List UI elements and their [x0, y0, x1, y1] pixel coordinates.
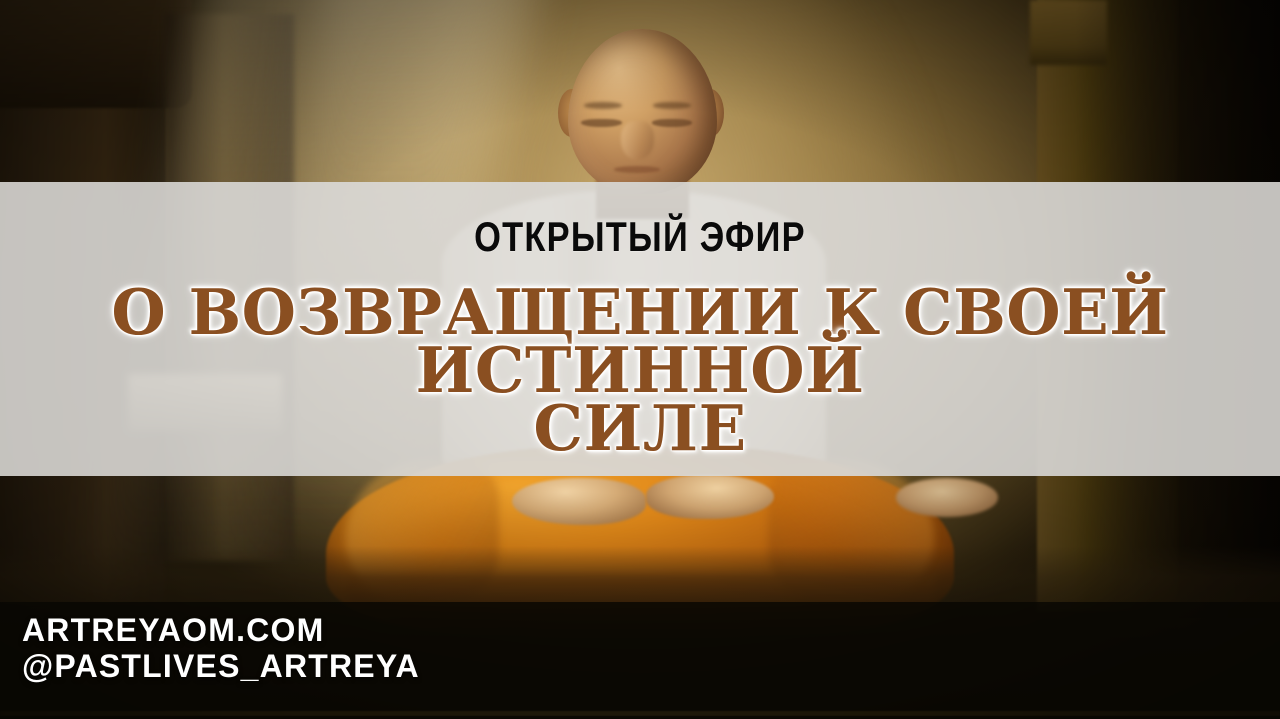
monk-eye-right-closed: [652, 119, 693, 127]
promo-banner: ОТКРЫТЫЙ ЭФИР О ВОЗВРАЩЕНИИ К СВОЕЙ ИСТИ…: [0, 0, 1280, 719]
monk-brow-left: [584, 102, 622, 108]
monk-hand-left: [512, 478, 646, 525]
footer-handle[interactable]: @PASTLIVES_ARTREYA: [22, 648, 420, 684]
kicker-text: ОТКРЫТЫЙ ЭФИР: [115, 216, 1165, 258]
footer-website[interactable]: ARTREYAOM.COM: [22, 612, 420, 648]
headline-line-1: О ВОЗВРАЩЕНИИ К СВОЕЙ ИСТИННОЙ: [111, 275, 1168, 407]
headline-line-2: СИЛЕ: [20, 400, 1259, 458]
headline: О ВОЗВРАЩЕНИИ К СВОЕЙ ИСТИННОЙ СИЛЕ: [20, 284, 1259, 458]
monk-brow-right: [653, 102, 691, 108]
monk-mouth: [614, 166, 660, 172]
monk-hand-right: [646, 475, 774, 520]
monk-eye-left-closed: [581, 119, 622, 127]
footer-contact: ARTREYAOM.COM @PASTLIVES_ARTREYA: [22, 612, 420, 685]
monk-hand-resting: [896, 478, 998, 517]
monk-nose: [621, 121, 654, 160]
